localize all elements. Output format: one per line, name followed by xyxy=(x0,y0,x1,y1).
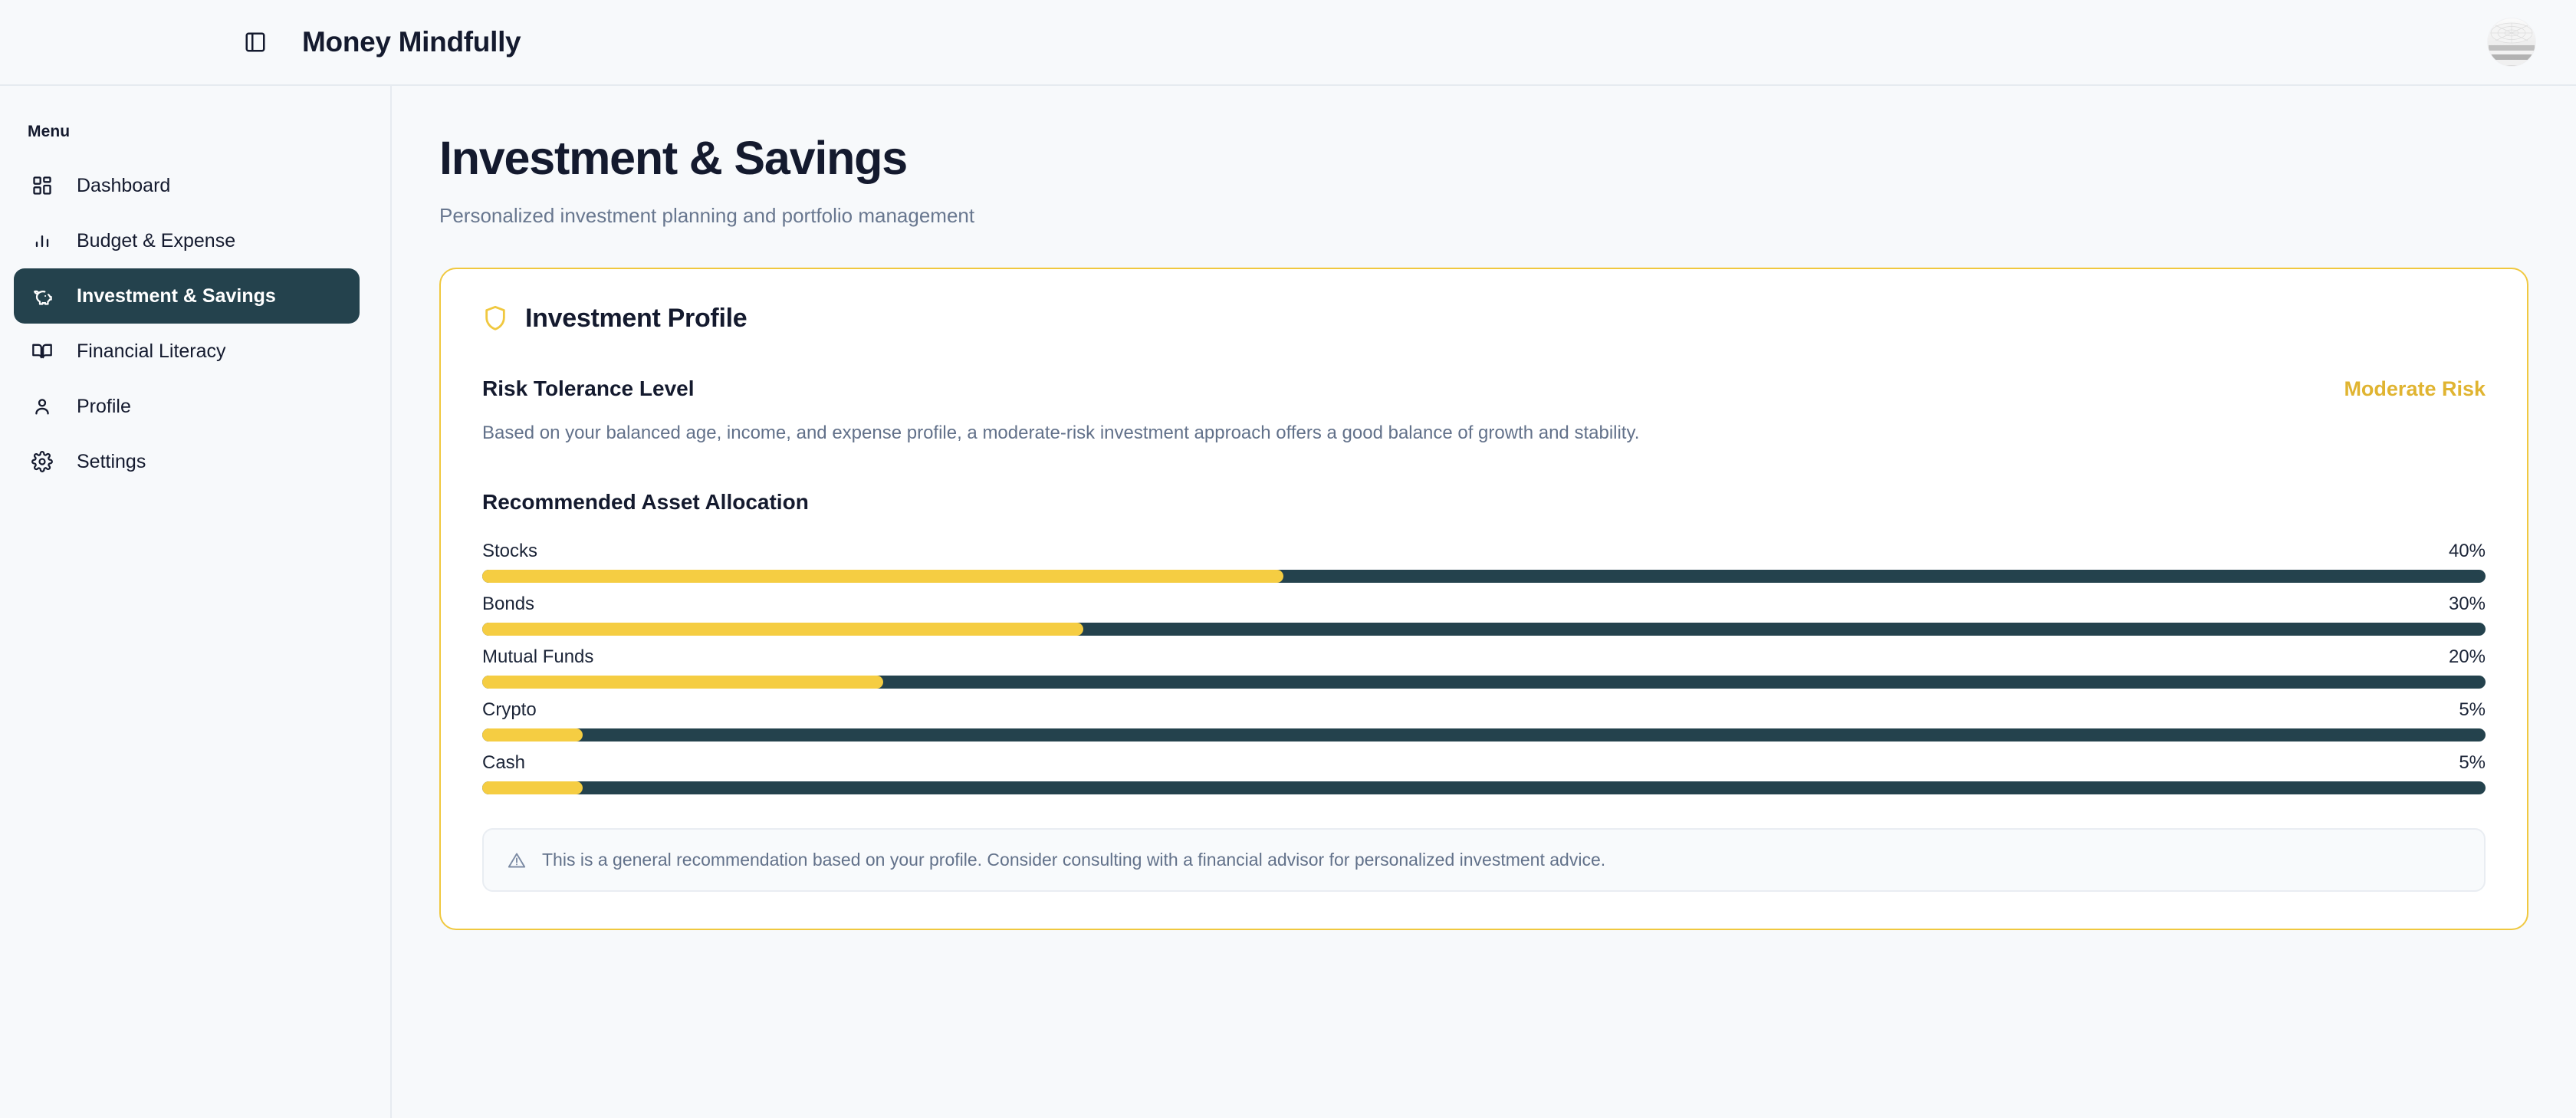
warning-triangle-icon xyxy=(507,850,527,870)
avatar[interactable] xyxy=(2487,18,2536,67)
card-title: Investment Profile xyxy=(525,304,747,334)
allocation-label: Cash xyxy=(482,752,525,774)
allocation-row: Stocks 40% xyxy=(482,541,2486,583)
app-root: Money Mindfully xyxy=(0,0,2576,1118)
sidebar-item-profile[interactable]: Profile xyxy=(14,379,360,434)
risk-level-badge: Moderate Risk xyxy=(2344,377,2486,401)
body-split: Menu Dashboard xyxy=(0,86,2576,1118)
book-open-icon xyxy=(31,340,54,363)
allocation-bar-track xyxy=(482,728,2486,741)
user-icon xyxy=(31,395,54,418)
sidebar-item-label: Budget & Expense xyxy=(77,230,235,252)
allocation-row: Bonds 30% xyxy=(482,594,2486,636)
shield-icon xyxy=(482,303,508,334)
sidebar-item-label: Settings xyxy=(77,451,146,473)
allocation-label: Bonds xyxy=(482,594,534,615)
grid-icon xyxy=(31,174,54,197)
allocation-bar-fill xyxy=(482,570,1283,583)
sidebar-item-label: Profile xyxy=(77,396,131,418)
allocation-bar-fill xyxy=(482,781,583,794)
sidebar-item-label: Investment & Savings xyxy=(77,285,276,307)
allocation-percent: 5% xyxy=(2459,752,2486,774)
risk-tolerance-heading: Risk Tolerance Level xyxy=(482,377,695,401)
allocation-percent: 30% xyxy=(2449,594,2486,615)
allocation-row: Mutual Funds 20% xyxy=(482,646,2486,689)
sidebar-item-budget-expense[interactable]: Budget & Expense xyxy=(14,213,360,268)
sidebar-item-label: Financial Literacy xyxy=(77,340,226,363)
allocation-bar-track xyxy=(482,781,2486,794)
sidebar-nav: Dashboard Budget & Expense xyxy=(0,158,390,489)
bar-chart-icon xyxy=(31,229,54,252)
page-subtitle: Personalized investment planning and por… xyxy=(439,204,2528,228)
sidebar-section-label: Menu xyxy=(0,123,390,158)
allocation-label: Stocks xyxy=(482,541,537,562)
allocation-bar-fill xyxy=(482,676,883,689)
panel-left-icon[interactable] xyxy=(238,25,273,60)
sidebar-item-dashboard[interactable]: Dashboard xyxy=(14,158,360,213)
page-title: Investment & Savings xyxy=(439,133,2528,182)
gear-icon xyxy=(31,450,54,473)
sidebar-item-investment-savings[interactable]: Investment & Savings xyxy=(14,268,360,324)
risk-tolerance-description: Based on your balanced age, income, and … xyxy=(482,421,2486,446)
disclaimer-note: This is a general recommendation based o… xyxy=(482,828,2486,892)
card-header: Investment Profile xyxy=(482,303,2486,334)
sidebar-item-financial-literacy[interactable]: Financial Literacy xyxy=(14,324,360,379)
allocation-percent: 40% xyxy=(2449,541,2486,562)
sidebar-item-settings[interactable]: Settings xyxy=(14,434,360,489)
investment-profile-card: Investment Profile Risk Tolerance Level … xyxy=(439,268,2528,930)
disclaimer-text: This is a general recommendation based o… xyxy=(542,850,1605,870)
risk-tolerance-row: Risk Tolerance Level Moderate Risk xyxy=(482,377,2486,401)
sidebar-item-label: Dashboard xyxy=(77,175,170,197)
main-content: Investment & Savings Personalized invest… xyxy=(392,86,2576,1118)
allocation-row: Crypto 5% xyxy=(482,699,2486,741)
allocation-row: Cash 5% xyxy=(482,752,2486,794)
brand-title: Money Mindfully xyxy=(302,26,521,58)
allocation-percent: 5% xyxy=(2459,699,2486,721)
piggy-bank-icon xyxy=(31,284,54,307)
allocation-label: Mutual Funds xyxy=(482,646,593,668)
allocation-bar-fill xyxy=(482,623,1083,636)
allocation-percent: 20% xyxy=(2449,646,2486,668)
top-bar: Money Mindfully xyxy=(0,0,2576,86)
allocation-bar-track xyxy=(482,570,2486,583)
allocation-heading: Recommended Asset Allocation xyxy=(482,490,2486,515)
allocation-bar-track xyxy=(482,623,2486,636)
allocation-label: Crypto xyxy=(482,699,537,721)
sidebar: Menu Dashboard xyxy=(0,86,392,1118)
allocation-bar-fill xyxy=(482,728,583,741)
allocation-list: Stocks 40% Bonds 30% xyxy=(482,541,2486,794)
allocation-bar-track xyxy=(482,676,2486,689)
